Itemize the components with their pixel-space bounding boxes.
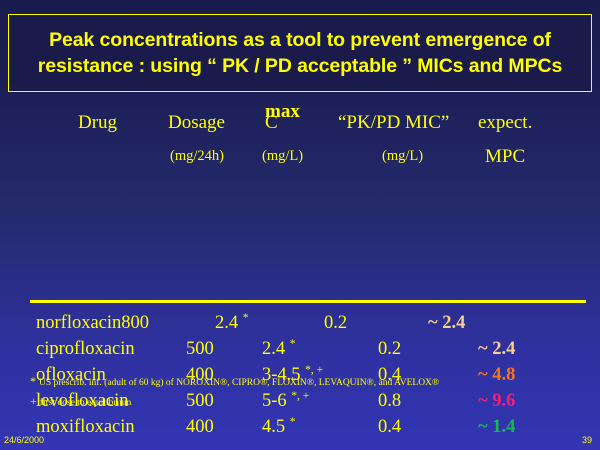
header-expect: expect. [478,112,532,134]
footer-page-number: 39 [582,435,592,445]
cell-drug: moxifloxacin [36,417,135,438]
footnotes: * US prescrib. inf. (adult of 60 kg) of … [30,372,590,412]
data-table: Drug Dosage Cmax “PK/PD MIC” expect. (mg… [0,110,600,188]
header-drug: Drug [78,112,117,134]
cell-mic: 0.2 [324,313,347,334]
title-line-2: resistance : using “ PK / PD acceptable … [38,53,562,79]
footer-date: 24/6/2000 [4,435,44,445]
header-dosage: Dosage [168,112,225,134]
cell-cmax-footnote-marker: * [290,338,296,350]
footnote-marker: + [30,394,40,408]
cell-cmax: 2.4 * [215,313,248,334]
header-mic: “PK/PD MIC” [338,112,449,134]
table-row: moxifloxacin4004.5 *0.4~ 1.4 [0,417,600,443]
table-row: ciprofloxacin5002.4 *0.2~ 2.4 [0,339,600,365]
table-row: norfloxacin8002.4 *0.2~ 2.4 [0,313,600,339]
footnote-text: US prescrib. inf. (adult of 60 kg) of NO… [39,378,439,388]
footnote-text: first dose to equilibrium [40,398,132,408]
unit-cmax: (mg/L) [262,148,303,165]
unit-mic: (mg/L) [382,148,423,165]
table-header-row: Drug Dosage Cmax “PK/PD MIC” expect. (mg… [0,110,600,188]
title-line-1: Peak concentrations as a tool to prevent… [49,27,551,53]
cell-expected-mpc: ~ 2.4 [478,339,515,360]
footnote-marker: * [30,374,39,388]
cell-cmax-footnote-marker: * [243,312,249,324]
unit-dosage: (mg/24h) [170,148,224,165]
footnote: * US prescrib. inf. (adult of 60 kg) of … [30,372,590,392]
cell-mic: 0.4 [378,417,401,438]
unit-expect: MPC [485,146,525,168]
cell-drug: ciprofloxacin [36,339,135,360]
table-rule-top [30,300,586,303]
cell-expected-mpc: ~ 1.4 [478,417,515,438]
cell-expected-mpc: ~ 2.4 [428,313,465,334]
cell-cmax: 4.5 * [262,417,295,438]
cell-drug: norfloxacin800 [36,313,149,334]
slide-title-box: Peak concentrations as a tool to prevent… [8,14,592,92]
footnote: + first dose to equilibrium [30,392,590,412]
cell-cmax: 2.4 * [262,339,295,360]
cell-mic: 0.2 [378,339,401,360]
cell-cmax-footnote-marker: * [290,416,296,428]
cell-dosage: 400 [186,417,214,438]
cell-dosage: 500 [186,339,214,360]
slide: Peak concentrations as a tool to prevent… [0,0,600,450]
